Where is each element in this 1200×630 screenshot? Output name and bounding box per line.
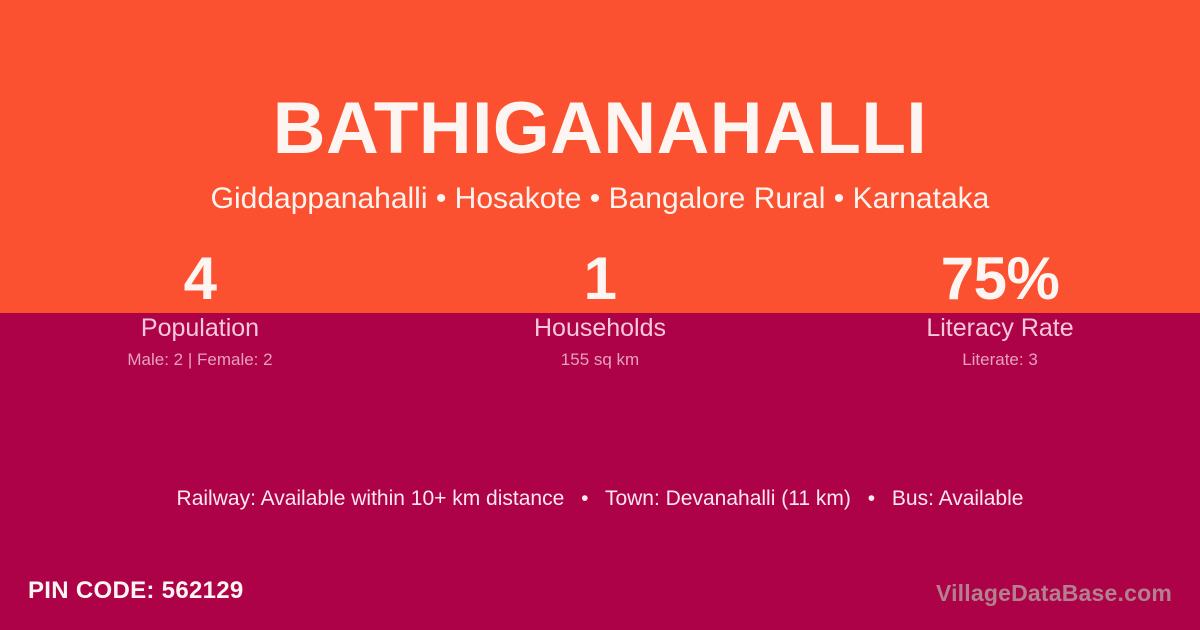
site-watermark: VillageDataBase.com <box>936 578 1172 608</box>
breadcrumb: Giddappanahalli • Hosakote • Bangalore R… <box>0 180 1200 218</box>
stat-population: 4 Population Male: 2 | Female: 2 <box>0 248 400 371</box>
stat-households-detail: 155 sq km <box>400 349 800 371</box>
page-title: BATHIGANAHALLI <box>0 85 1200 173</box>
stat-households-value: 1 <box>400 248 800 310</box>
amenity-separator-icon: • <box>570 485 599 513</box>
stat-households-label: Households <box>400 312 800 344</box>
amenity-bus: Bus: Available <box>892 487 1024 510</box>
stats-row: 4 Population Male: 2 | Female: 2 1 House… <box>0 248 1200 371</box>
stat-population-value: 4 <box>0 248 400 310</box>
village-info-card: BATHIGANAHALLI Giddappanahalli • Hosakot… <box>0 0 1200 630</box>
amenity-railway: Railway: Available within 10+ km distanc… <box>177 487 565 510</box>
pin-code: PIN CODE: 562129 <box>28 576 244 606</box>
stat-population-detail: Male: 2 | Female: 2 <box>0 349 400 371</box>
stat-literacy-rate: 75% Literacy Rate Literate: 3 <box>800 248 1200 371</box>
amenities-row: Railway: Available within 10+ km distanc… <box>0 485 1200 513</box>
stat-literacy-rate-label: Literacy Rate <box>800 312 1200 344</box>
stat-literacy-rate-value: 75% <box>800 248 1200 310</box>
stat-literacy-rate-detail: Literate: 3 <box>800 349 1200 371</box>
stat-population-label: Population <box>0 312 400 344</box>
amenity-separator-icon: • <box>857 485 886 513</box>
stat-households: 1 Households 155 sq km <box>400 248 800 371</box>
amenity-town: Town: Devanahalli (11 km) <box>605 487 851 510</box>
